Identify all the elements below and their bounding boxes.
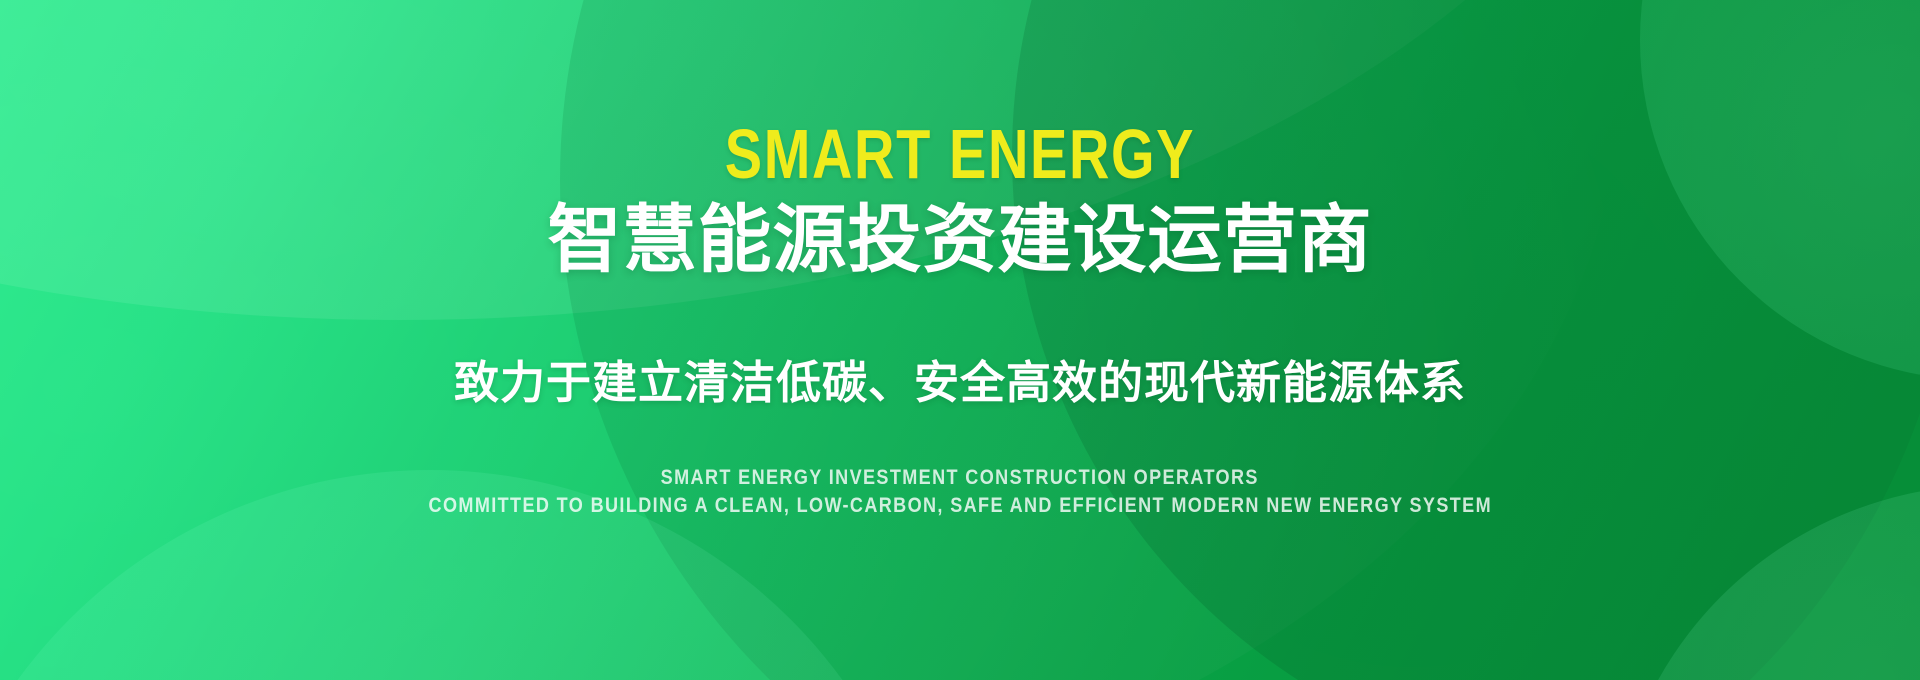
hero-banner: SMART ENERGY 智慧能源投资建设运营商 致力于建立清洁低碳、安全高效的… (0, 0, 1920, 680)
banner-headline-chinese: 智慧能源投资建设运营商 (548, 198, 1373, 282)
banner-english-line-1: SMART ENERGY INVESTMENT CONSTRUCTION OPE… (661, 467, 1259, 489)
banner-eyebrow-smart-energy: SMART ENERGY (725, 118, 1195, 190)
banner-english-caption-block: SMART ENERGY INVESTMENT CONSTRUCTION OPE… (342, 467, 1579, 517)
banner-english-line-2: COMMITTED TO BUILDING A CLEAN, LOW-CARBO… (428, 495, 1491, 517)
banner-content: SMART ENERGY 智慧能源投资建设运营商 致力于建立清洁低碳、安全高效的… (0, 0, 1920, 680)
banner-subheadline-chinese: 致力于建立清洁低碳、安全高效的现代新能源体系 (454, 358, 1466, 408)
